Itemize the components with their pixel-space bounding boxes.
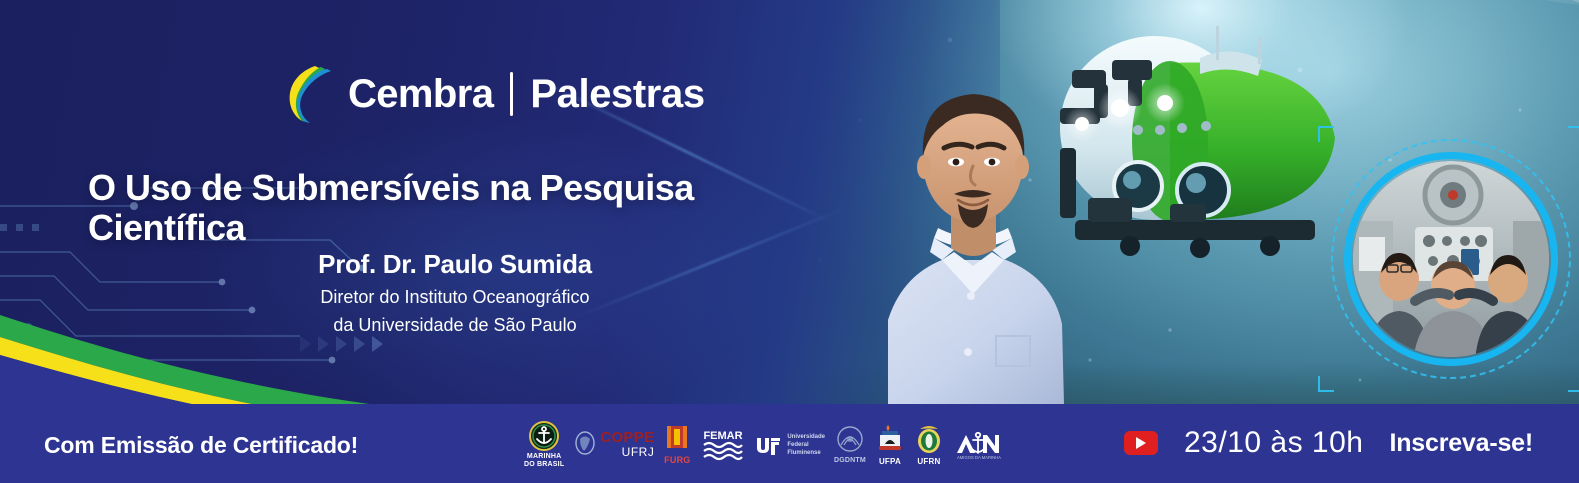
partner-logo-dgdntm[interactable]: DGDNTM	[834, 419, 866, 471]
corner-bracket-tl	[1318, 126, 1334, 142]
cockpit-photo-inset	[1344, 152, 1558, 366]
partner-caption: COPPE	[600, 430, 654, 445]
partner-logo-ufpa[interactable]: UFPA	[875, 419, 905, 471]
partner-logo-uff[interactable]: UniversidadeFederalFluminense	[755, 419, 825, 471]
femar-waves-icon: FEMAR	[700, 428, 746, 462]
speaker-role-line2: da Universidade de São Paulo	[240, 313, 670, 337]
partner-logo-amn[interactable]: AMIGOS DA MARINHA	[953, 419, 1005, 471]
corner-bracket-bl	[1318, 376, 1334, 392]
partner-logo-femar[interactable]: FEMAR	[700, 419, 746, 471]
cembra-swoosh-icon	[283, 63, 339, 125]
partner-logo-marinha[interactable]: MARINHADO BRASIL	[524, 419, 564, 471]
coppe-crest-icon	[573, 430, 597, 460]
ufrn-crest-icon	[914, 424, 944, 456]
schedule-block: 23/10 às 10h Inscreva-se!	[1124, 426, 1533, 460]
partner-logo-coppe-ufrj[interactable]: COPPE UFRJ	[573, 419, 654, 471]
dgdntm-crest-icon	[835, 425, 865, 455]
speaker-role-line1: Diretor do Instituto Oceanográfico	[240, 285, 670, 309]
partner-logo-furg[interactable]: FURG	[663, 419, 691, 471]
event-datetime: 23/10 às 10h	[1184, 426, 1363, 460]
ufpa-crest-icon	[875, 424, 905, 456]
corner-bracket-br	[1568, 376, 1579, 392]
partner-caption-sub: UFRJ	[622, 445, 655, 459]
partner-caption: DGDNTM	[834, 457, 866, 465]
register-cta[interactable]: Inscreva-se!	[1389, 429, 1533, 458]
uff-icon	[755, 434, 783, 456]
youtube-play-icon[interactable]	[1124, 431, 1158, 455]
brand-series: Palestras	[530, 74, 704, 114]
partner-caption: UFPA	[879, 458, 901, 467]
cembra-palestras-lockup: Cembra Palestras	[283, 63, 705, 125]
partner-caption: FURG	[664, 456, 690, 466]
inset-photo	[1353, 161, 1549, 357]
partner-caption: UFRN	[917, 458, 940, 467]
lockup-divider	[510, 72, 513, 116]
anchor-emblem-icon	[529, 421, 559, 451]
brand-name: Cembra	[348, 74, 493, 114]
speaker-name: Prof. Dr. Paulo Sumida	[240, 248, 670, 281]
svg-text:FEMAR: FEMAR	[704, 430, 743, 442]
speaker-portrait	[846, 52, 1101, 404]
certificate-note: Com Emissão de Certificado!	[44, 432, 358, 459]
partner-logos: MARINHADO BRASIL COPPE UFRJ FURG	[524, 417, 1005, 473]
amn-anchor-icon: AMIGOS DA MARINHA	[953, 429, 1005, 461]
partner-caption: MARINHADO BRASIL	[524, 453, 564, 468]
page-title: O Uso de Submersíveis na Pesquisa Cientí…	[88, 168, 848, 249]
speaker-block: Prof. Dr. Paulo Sumida Diretor do Instit…	[240, 248, 670, 337]
footer-bar: Com Emissão de Certificado! MARINHADO BR…	[0, 404, 1579, 483]
event-banner: Cembra Palestras O Uso de Submersíveis n…	[0, 0, 1579, 483]
svg-text:AMIGOS DA MARINHA: AMIGOS DA MARINHA	[957, 455, 1001, 460]
furg-emblem-icon	[663, 424, 691, 454]
corner-bracket-tr	[1568, 126, 1579, 142]
partner-logo-ufrn[interactable]: UFRN	[914, 419, 944, 471]
partner-caption: UniversidadeFederalFluminense	[787, 433, 825, 457]
